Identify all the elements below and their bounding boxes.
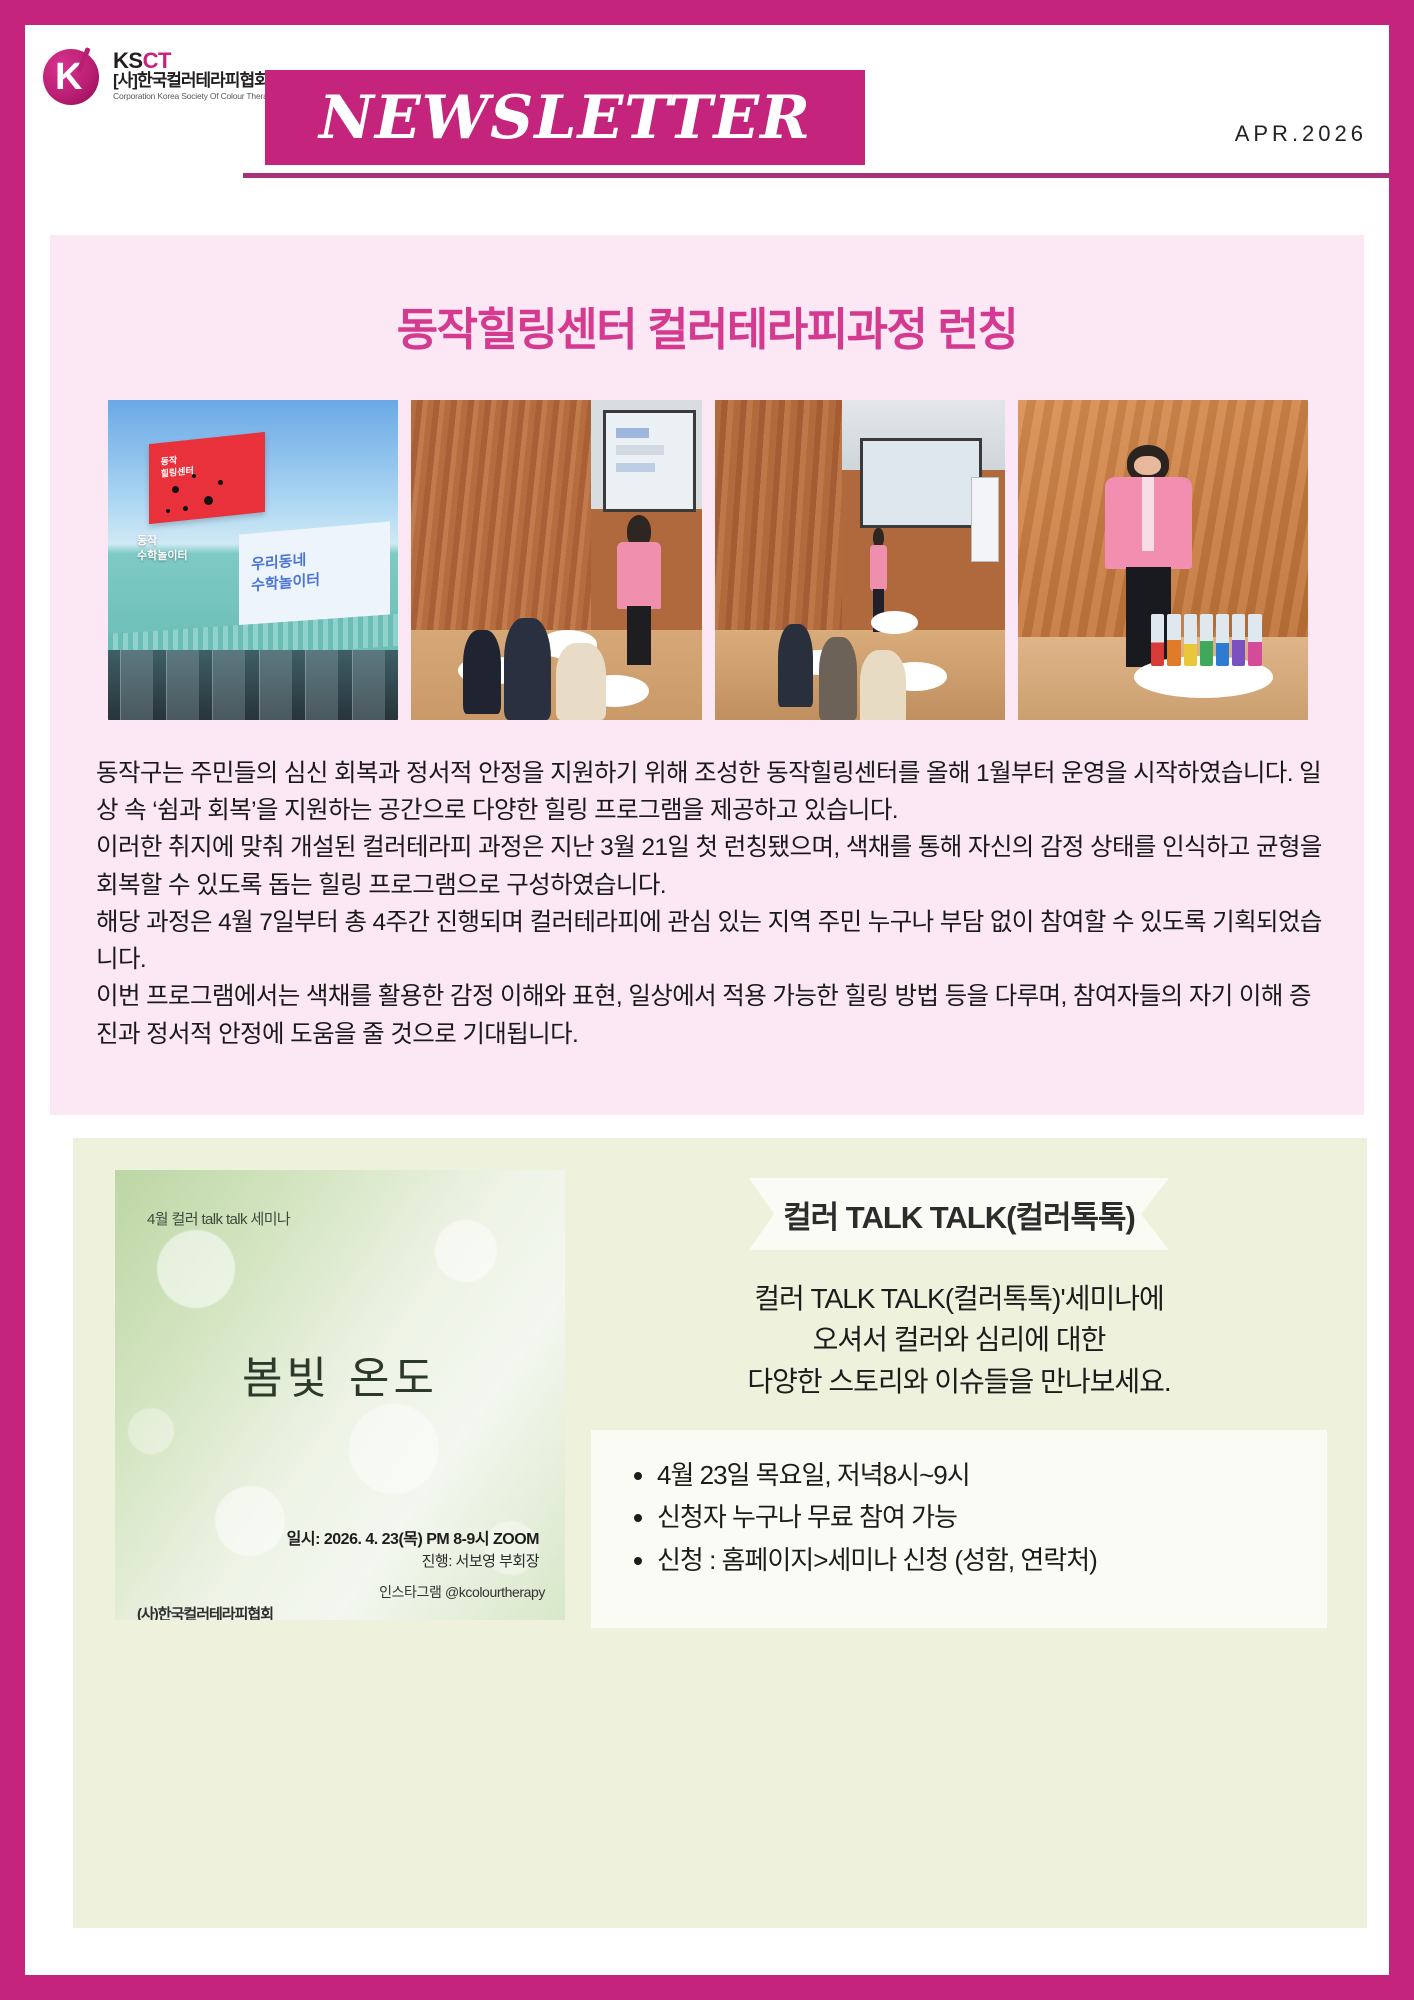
photo3-student-b xyxy=(819,637,857,720)
photo-class-session xyxy=(411,400,701,720)
poster-footer-instagram: 인스타그램 @kcolourtherapy xyxy=(379,1582,545,1602)
section1-title: 동작힐링센터 컬러테라피과정 런칭 xyxy=(50,235,1364,358)
talk-talk-lead: 컬러 TALK TALK(컬러톡톡)'세미나에 오셔서 컬러와 심리에 대한 다… xyxy=(591,1278,1327,1402)
talk-talk-panel: 컬러 TALK TALK(컬러톡톡) 컬러 TALK TALK(컬러톡톡)'세미… xyxy=(565,1138,1367,1928)
section1-paragraph-1: 동작구는 주민들의 심신 회복과 정서적 안정을 지원하기 위해 조성한 동작힐… xyxy=(96,755,1326,829)
poster-title: 봄빛 온도 xyxy=(115,1342,565,1406)
logo-acronym-ks: KS xyxy=(113,48,143,73)
poster-footer-org: (사)한국컬러테라피협회 xyxy=(137,1603,273,1620)
talk-talk-lead-line-2: 오셔서 컬러와 심리에 대한 xyxy=(591,1319,1327,1360)
photo4-color-bottles xyxy=(1151,614,1261,665)
talk-talk-ribbon: 컬러 TALK TALK(컬러톡톡) xyxy=(749,1178,1169,1250)
photo2-wood-wall xyxy=(411,400,591,630)
photo3-wood-wall xyxy=(715,400,843,650)
logo-english-name: Corporation Korea Society Of Colour Ther… xyxy=(113,92,276,101)
photo-instructor-bottles xyxy=(1018,400,1308,720)
issue-date: APR.2026 xyxy=(1235,121,1367,147)
header-divider xyxy=(243,173,1389,178)
page-header: K KSCT [사]한국컬러테라피협회 Corporation Korea So… xyxy=(25,25,1389,185)
photo1-sign-label: 동작힐링센터 xyxy=(160,454,193,481)
poster-host: 진행: 서보영 부회장 xyxy=(422,1550,539,1571)
photo2-student-a xyxy=(463,630,501,713)
logo-mark-icon: K xyxy=(43,45,103,105)
list-item: 신청자 누구나 무료 참여 가능 xyxy=(657,1496,1309,1538)
logo-korean-name: [사]한국컬러테라피협회 xyxy=(113,72,276,90)
section1-paragraph-2: 이러한 취지에 맞춰 개설된 컬러테라피 과정은 지난 3월 21일 첫 런칭됐… xyxy=(96,829,1326,903)
poster-top-label: 4월 컬러 talk talk 세미나 xyxy=(147,1208,290,1229)
talk-talk-lead-line-1: 컬러 TALK TALK(컬러톡톡)'세미나에 xyxy=(591,1278,1327,1319)
photo2-projection-screen xyxy=(603,410,696,512)
newsletter-title-band: NEWSLETTER xyxy=(265,70,865,165)
section1-paragraph-4: 이번 프로그램에서는 색채를 활용한 감정 이해와 표현, 일상에서 적용 가능… xyxy=(96,978,1326,1052)
photo3-side-poster xyxy=(971,477,999,562)
seminar-poster: 4월 컬러 talk talk 세미나 봄빛 온도 일시: 2026. 4. 2… xyxy=(115,1170,565,1620)
newsletter-page: K KSCT [사]한국컬러테라피협회 Corporation Korea So… xyxy=(25,25,1389,1975)
talk-talk-details-box: 4월 23일 목요일, 저녁8시~9시 신청자 누구나 무료 참여 가능 신청 … xyxy=(591,1430,1327,1628)
photo1-panel-text: 우리동네수학놀이터 xyxy=(251,548,320,596)
section1-body: 동작구는 주민들의 심신 회복과 정서적 안정을 지원하기 위해 조성한 동작힐… xyxy=(96,755,1326,1053)
photo2-student-b xyxy=(504,618,550,720)
talk-talk-lead-line-3: 다양한 스토리와 이슈들을 만나보세요. xyxy=(591,1361,1327,1402)
poster-datetime: 일시: 2026. 4. 23(목) PM 8-9시 ZOOM xyxy=(287,1525,539,1549)
logo-text-block: KSCT [사]한국컬러테라피협회 Corporation Korea Soci… xyxy=(113,49,276,101)
newsletter-title: NEWSLETTER xyxy=(319,83,811,153)
list-item: 신청 : 홈페이지>세미나 신청 (성함, 연락처) xyxy=(657,1539,1309,1581)
talk-talk-bullet-list: 4월 23일 목요일, 저녁8시~9시 신청자 누구나 무료 참여 가능 신청 … xyxy=(631,1454,1309,1580)
photo3-student-c xyxy=(860,650,906,720)
photo1-storefront xyxy=(108,650,398,720)
ksct-logo: K KSCT [사]한국컬러테라피협회 Corporation Korea So… xyxy=(43,45,276,105)
photo3-table-a xyxy=(871,611,917,633)
logo-acronym: KSCT xyxy=(113,49,276,72)
photo1-wall-text: 동작수학놀이터 xyxy=(137,534,188,564)
logo-acronym-ct: CT xyxy=(143,48,171,73)
talk-talk-ribbon-title: 컬러 TALK TALK(컬러톡톡) xyxy=(783,1192,1135,1237)
photo-strip: 동작힐링센터 우리동네수학놀이터 동작수학놀이터 xyxy=(108,400,1308,720)
section1-paragraph-3: 해당 과정은 4월 7일부터 총 4주간 진행되며 컬러테라피에 관심 있는 지… xyxy=(96,904,1326,978)
photo3-student-a xyxy=(778,624,813,707)
section-color-talk-talk: 4월 컬러 talk talk 세미나 봄빛 온도 일시: 2026. 4. 2… xyxy=(73,1138,1367,1928)
list-item: 4월 23일 목요일, 저녁8시~9시 xyxy=(657,1454,1309,1496)
photo-center-exterior: 동작힐링센터 우리동네수학놀이터 동작수학놀이터 xyxy=(108,400,398,720)
photo-class-wide xyxy=(715,400,1005,720)
section-healing-center: 동작힐링센터 컬러테라피과정 런칭 동작힐링센터 우리동네수학놀이터 동작수학놀… xyxy=(50,235,1364,1115)
photo2-instructor xyxy=(617,515,661,662)
photo3-projection-screen xyxy=(860,438,982,527)
photo2-student-c xyxy=(556,643,605,720)
